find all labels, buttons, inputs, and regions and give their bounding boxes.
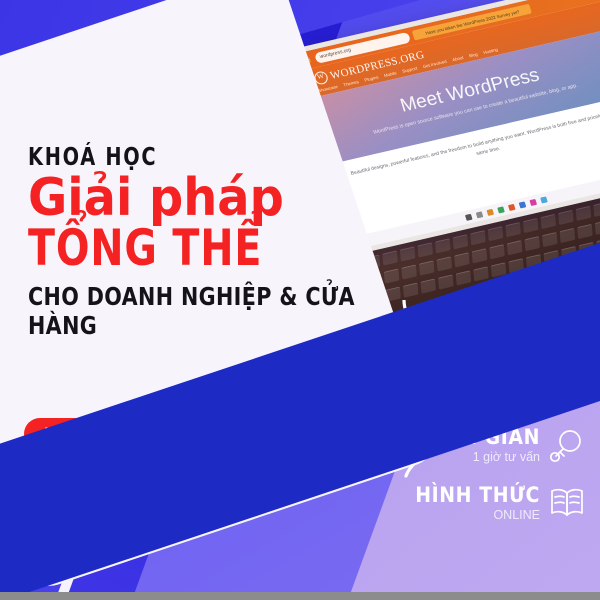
nav-item[interactable]: Plugins xyxy=(364,75,379,83)
taskbar-icon[interactable] xyxy=(464,213,472,220)
headline-secondary: TỔNG THỂ xyxy=(28,225,371,273)
taskbar-icon[interactable] xyxy=(518,201,526,208)
taskbar-icon[interactable] xyxy=(475,211,483,218)
nav-item[interactable]: About xyxy=(452,55,464,62)
nav-item[interactable]: Blog xyxy=(468,52,478,59)
list-item[interactable]: HÌNH THỨC ONLINE xyxy=(386,484,586,522)
taskbar-icon[interactable] xyxy=(507,204,515,211)
list-item-title: HÌNH THỨC xyxy=(415,484,540,506)
promo-banner: 🔒 wordpress.org Have you taken the WordP… xyxy=(0,0,600,592)
nav-item[interactable]: Support xyxy=(402,66,418,74)
taskbar-icon[interactable] xyxy=(540,196,548,203)
headline-group: KHOÁ HỌC Giải pháp TỔNG THỂ CHO DOANH NG… xyxy=(28,142,418,340)
taskbar-icon[interactable] xyxy=(486,208,494,215)
nav-item[interactable]: Themes xyxy=(343,79,360,87)
headline-primary: Giải pháp xyxy=(28,175,387,223)
taskbar-icon[interactable] xyxy=(529,199,537,206)
kicker-text: KHOÁ HỌC xyxy=(28,142,363,171)
lightbulb-icon xyxy=(548,426,586,464)
nav-item[interactable]: Hosting xyxy=(483,47,499,55)
nav-item[interactable]: Mobile xyxy=(383,70,397,78)
taskbar-icon[interactable] xyxy=(497,206,505,213)
open-book-icon xyxy=(548,484,586,522)
bottom-gray-bar xyxy=(0,592,600,600)
list-item-value: ONLINE xyxy=(415,508,540,522)
